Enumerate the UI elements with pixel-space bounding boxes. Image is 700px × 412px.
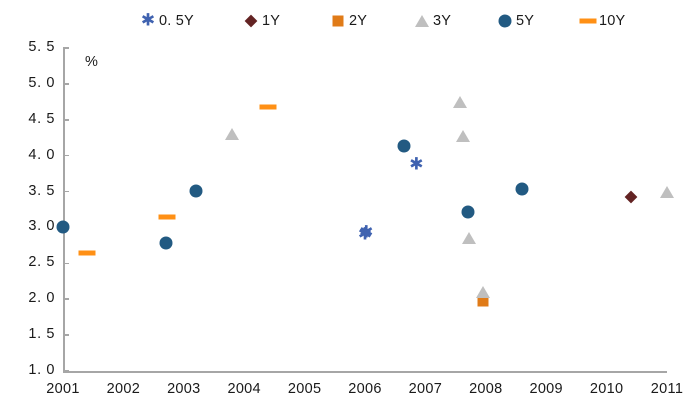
y-axis-tick bbox=[63, 191, 69, 193]
y-axis-tick-label: 4. 0 bbox=[9, 147, 55, 163]
triangle-marker-icon bbox=[451, 93, 469, 111]
x-axis-tick-label: 2008 bbox=[456, 381, 516, 397]
y-axis-tick bbox=[63, 83, 69, 85]
y-axis-tick-label: 1. 0 bbox=[9, 362, 55, 378]
y-axis-tick bbox=[63, 370, 69, 372]
x-axis-line bbox=[63, 371, 667, 373]
triangle-marker-icon bbox=[474, 283, 492, 301]
data-point bbox=[54, 218, 72, 236]
data-point bbox=[259, 98, 277, 116]
dash-marker-icon bbox=[78, 244, 96, 262]
triangle-marker-icon bbox=[460, 229, 478, 247]
y-axis-tick-label: 4. 5 bbox=[9, 111, 55, 127]
y-axis-tick bbox=[63, 155, 69, 157]
y-axis-tick bbox=[63, 263, 69, 265]
x-axis-tick-label: 2003 bbox=[154, 381, 214, 397]
circle-marker-icon bbox=[157, 234, 175, 252]
data-point bbox=[459, 203, 477, 221]
asterisk-marker-icon: ✱ bbox=[357, 224, 375, 242]
circle-marker-icon bbox=[187, 182, 205, 200]
x-axis-tick-label: 2001 bbox=[33, 381, 93, 397]
x-axis-tick-label: 2005 bbox=[275, 381, 335, 397]
x-axis-tick-label: 2004 bbox=[214, 381, 274, 397]
data-point bbox=[157, 234, 175, 252]
y-axis-unit-label: % bbox=[85, 54, 98, 70]
data-point bbox=[395, 137, 413, 155]
y-axis-tick bbox=[63, 334, 69, 336]
data-point: ✱ bbox=[357, 224, 375, 242]
y-axis-tick-label: 3. 5 bbox=[9, 183, 55, 199]
x-axis-tick-label: 2002 bbox=[93, 381, 153, 397]
x-axis-tick-label: 2006 bbox=[335, 381, 395, 397]
y-axis-tick-label: 2. 5 bbox=[9, 254, 55, 270]
circle-marker-icon bbox=[513, 180, 531, 198]
data-point bbox=[451, 93, 469, 111]
y-axis-tick-label: 1. 5 bbox=[9, 326, 55, 342]
y-axis-line bbox=[63, 48, 65, 371]
data-point bbox=[622, 188, 640, 206]
y-axis-tick bbox=[63, 47, 69, 49]
diamond-marker-icon bbox=[622, 188, 640, 206]
data-point bbox=[460, 229, 478, 247]
scatter-chart: ✱0. 5Y1Y2Y3Y5Y10Y % 5. 55. 04. 54. 03. 5… bbox=[0, 0, 700, 412]
asterisk-marker-icon: ✱ bbox=[407, 156, 425, 174]
circle-marker-icon bbox=[459, 203, 477, 221]
x-axis-tick-label: 2007 bbox=[395, 381, 455, 397]
plot-area: % 5. 55. 04. 54. 03. 53. 02. 52. 01. 51.… bbox=[0, 0, 700, 412]
data-point bbox=[223, 125, 241, 143]
data-point bbox=[187, 182, 205, 200]
triangle-marker-icon bbox=[454, 127, 472, 145]
data-point bbox=[513, 180, 531, 198]
dash-marker-icon bbox=[259, 98, 277, 116]
circle-marker-icon bbox=[395, 137, 413, 155]
y-axis-tick-label: 5. 5 bbox=[9, 39, 55, 55]
x-axis-tick-label: 2010 bbox=[577, 381, 637, 397]
y-axis-tick bbox=[63, 298, 69, 300]
data-point bbox=[78, 244, 96, 262]
data-point bbox=[474, 283, 492, 301]
triangle-marker-icon bbox=[223, 125, 241, 143]
y-axis-tick-label: 3. 0 bbox=[9, 218, 55, 234]
x-axis-tick-label: 2009 bbox=[516, 381, 576, 397]
x-axis-tick-label: 2011 bbox=[637, 381, 697, 397]
y-axis-tick-label: 5. 0 bbox=[9, 75, 55, 91]
circle-marker-icon bbox=[54, 218, 72, 236]
data-point bbox=[454, 127, 472, 145]
data-point bbox=[158, 208, 176, 226]
y-axis-tick-label: 2. 0 bbox=[9, 290, 55, 306]
y-axis-tick bbox=[63, 119, 69, 121]
data-point: ✱ bbox=[407, 156, 425, 174]
triangle-marker-icon bbox=[658, 183, 676, 201]
dash-marker-icon bbox=[158, 208, 176, 226]
data-point bbox=[658, 183, 676, 201]
